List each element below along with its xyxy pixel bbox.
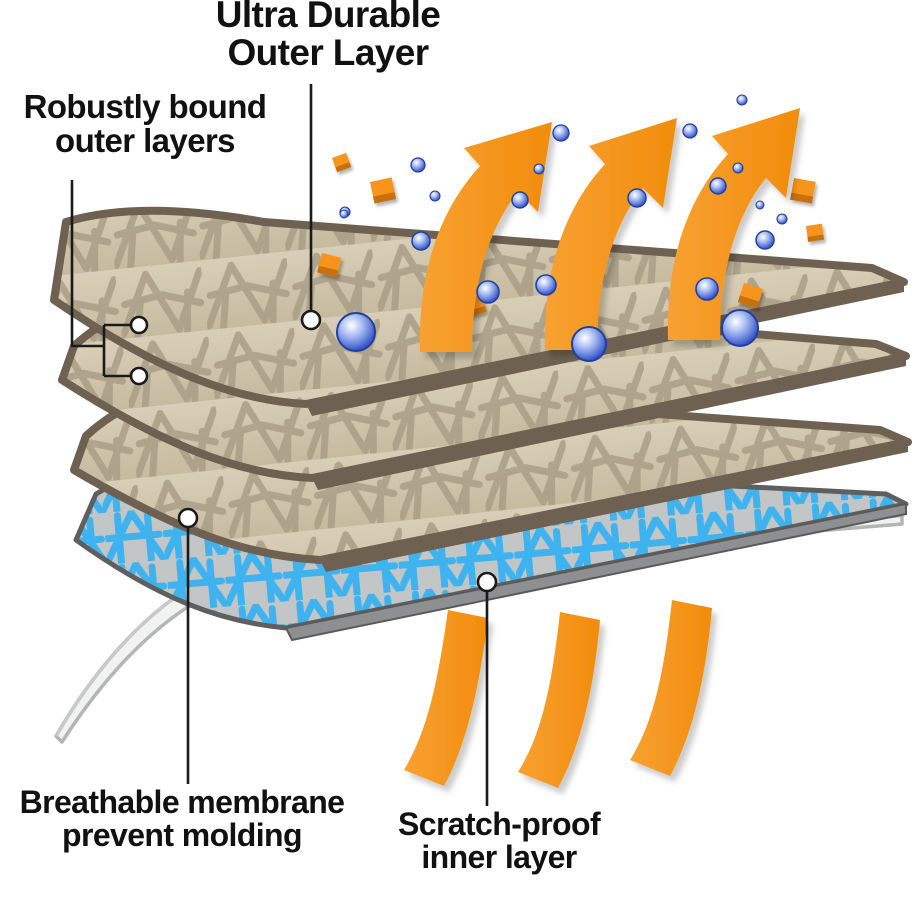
callout-label-bound-layers: Robustly bound outer layers (4, 90, 286, 157)
leader-dot-bound-lower (131, 368, 147, 384)
leader-dot-inner-layer (478, 573, 496, 591)
callout-label-scratch-proof-inner: Scratch-proof inner layer (368, 808, 630, 873)
airflow-arrows-under (404, 600, 712, 788)
leader-dot-outer-layer (302, 311, 320, 329)
callout-label-breathable-membrane: Breathable membrane prevent molding (2, 786, 362, 851)
leader-dot-membrane (179, 509, 197, 527)
callout-label-outer-layer: Ultra Durable Outer Layer (203, 0, 453, 71)
leader-dot-bound-upper (131, 317, 147, 333)
infographic-canvas: Ultra Durable Outer Layer Robustly bound… (0, 0, 916, 902)
